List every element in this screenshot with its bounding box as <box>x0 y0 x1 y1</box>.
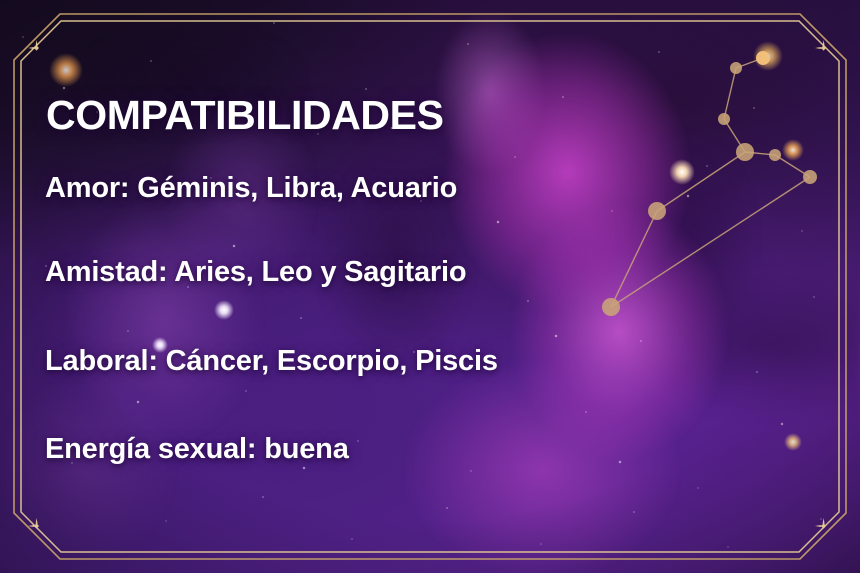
compatibility-line-energia: Energía sexual: buena <box>45 433 349 466</box>
text-content: COMPATIBILIDADES Amor: Géminis, Libra, A… <box>0 0 860 573</box>
compatibility-line-amistad: Amistad: Aries, Leo y Sagitario <box>45 256 466 289</box>
horoscope-compatibility-card: COMPATIBILIDADES Amor: Géminis, Libra, A… <box>0 0 860 573</box>
page-title: COMPATIBILIDADES <box>46 92 444 139</box>
compatibility-line-amor: Amor: Géminis, Libra, Acuario <box>45 172 457 205</box>
compatibility-line-laboral: Laboral: Cáncer, Escorpio, Piscis <box>45 345 498 378</box>
